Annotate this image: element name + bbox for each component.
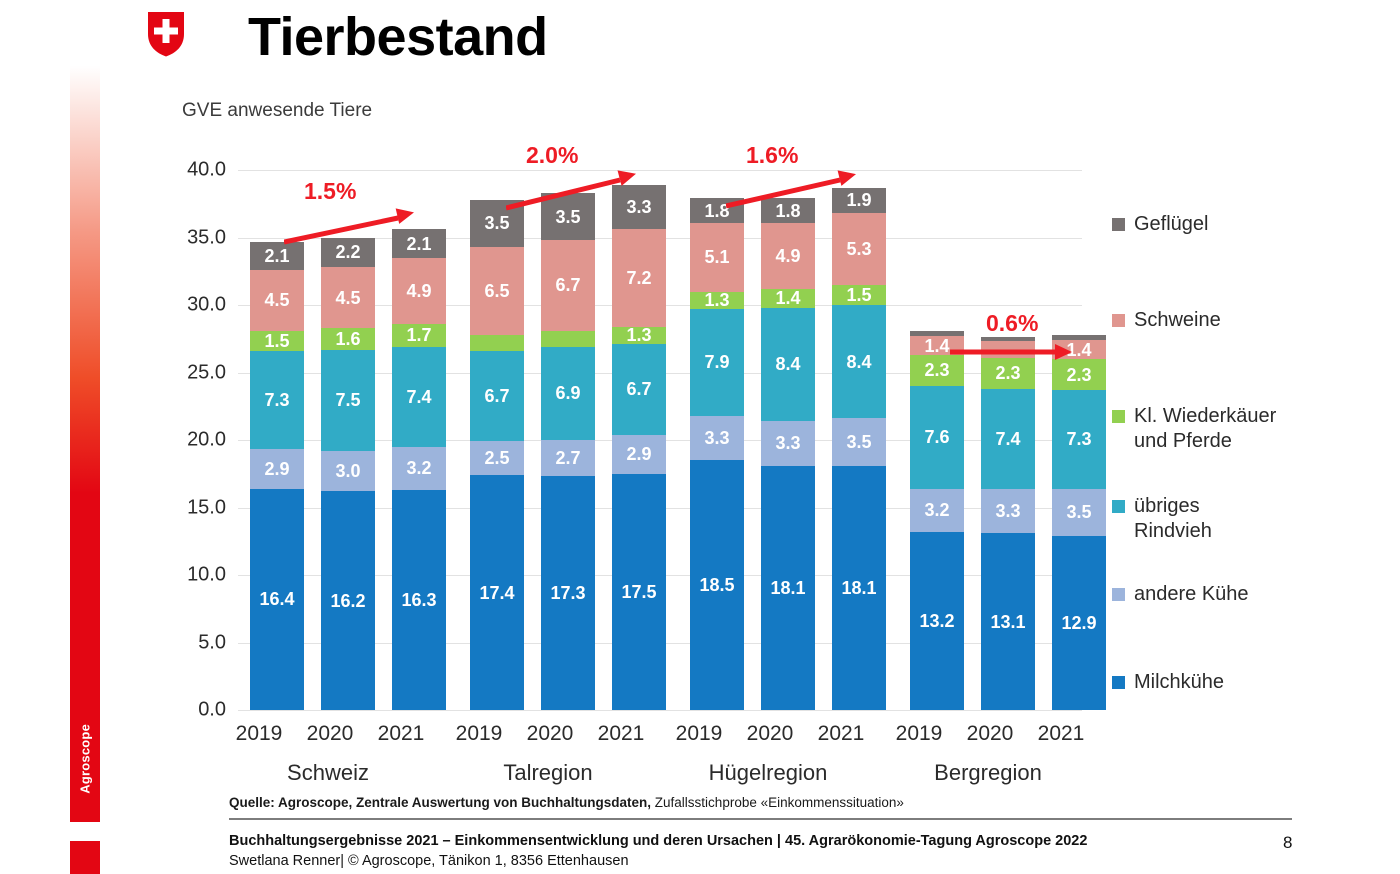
y-axis-tick-label: 25.0 [187,361,226,384]
y-axis-tick-label: 30.0 [187,294,226,317]
bar-segment-value: 4.9 [775,247,800,265]
x-axis-year-label: 2020 [963,722,1017,746]
bar-segment-value: 1.7 [406,326,431,344]
bar-segment[interactable]: 18.1 [832,466,886,710]
bar-segment[interactable]: 7.4 [392,347,446,447]
bar-segment[interactable]: 2.3 [1052,359,1106,390]
bar-segment[interactable]: 1.6 [321,328,375,350]
bar-segment-value: 4.5 [264,291,289,309]
bar-segment-value: 3.2 [924,501,949,519]
bar-segment[interactable]: 17.4 [470,475,524,710]
bar-segment-value: 1.3 [626,326,651,344]
bar-segment-value: 7.4 [406,388,431,406]
bar-segment-value: 17.4 [479,584,514,602]
bar-segment-value: 5.3 [846,240,871,258]
bar-segment[interactable]: 8.4 [761,308,815,421]
bar-segment[interactable]: 18.1 [761,466,815,710]
legend-swatch [1112,500,1125,513]
bar-segment-value: 7.5 [335,391,360,409]
bar-segment[interactable]: 3.5 [1052,489,1106,536]
growth-arrow-icon [284,206,414,252]
y-axis-tick-label: 20.0 [187,429,226,452]
bar-segment[interactable]: 4.5 [321,267,375,328]
y-axis-tick-label: 15.0 [187,496,226,519]
bar-segment-value: 2.3 [1066,366,1091,384]
bar-segment[interactable]: 5.1 [690,223,744,292]
bar-segment-value: 6.7 [484,387,509,405]
bar-segment[interactable]: 3.2 [392,447,446,490]
bar-segment-value: 3.3 [775,434,800,452]
bar-segment-value: 8.4 [775,355,800,373]
x-axis-year-label: 2020 [743,722,797,746]
bar-segment-value: 6.9 [555,384,580,402]
legend-item[interactable]: Schweine [1112,308,1221,333]
x-axis-year-label: 2021 [1034,722,1088,746]
x-axis-region-label: Bergregion [890,760,1086,786]
bar-segment-value: 17.3 [550,584,585,602]
x-axis-year-label: 2021 [374,722,428,746]
bar-segment[interactable]: 6.7 [612,344,666,434]
bar-segment[interactable]: 3.0 [321,451,375,492]
bar-segment-value: 3.3 [995,502,1020,520]
bar-segment[interactable]: 16.2 [321,491,375,710]
bar-segment[interactable]: 3.3 [761,421,815,466]
bar-segment[interactable]: 6.7 [470,351,524,441]
bar-segment[interactable]: 17.5 [612,474,666,710]
bar-segment-value: 2.3 [995,364,1020,382]
plot-area: 0.05.010.015.020.025.030.035.040.0 16.42… [238,170,1082,710]
bar-segment[interactable]: 16.4 [250,489,304,710]
bar-segment-value: 2.5 [484,449,509,467]
agroscope-sidebar-footer-block [70,841,100,874]
bar-segment[interactable]: 2.7 [541,440,595,476]
bar-segment-value: 6.5 [484,282,509,300]
bar-segment[interactable] [541,331,595,347]
bar-segment[interactable]: 7.6 [910,386,964,489]
bar-segment[interactable]: 2.5 [470,441,524,475]
bar-segment[interactable]: 13.1 [981,533,1035,710]
bar-segment[interactable]: 1.3 [690,292,744,310]
bar-segment[interactable]: 2.9 [612,435,666,474]
bar-group: 13.23.27.62.31.413.13.37.42.312.93.57.32… [910,170,1106,710]
bar-segment-value: 7.9 [704,353,729,371]
bar-segment[interactable]: 2.9 [250,449,304,488]
bar-segment-value: 6.7 [555,276,580,294]
bar-segment[interactable]: 1.3 [612,327,666,345]
bar-segment[interactable]: 2.3 [981,358,1035,389]
legend-item[interactable]: übriges Rindvieh [1112,494,1212,544]
legend-label: übriges Rindvieh [1134,494,1212,544]
bar-segment[interactable]: 5.3 [832,213,886,285]
bar-segment-value: 2.3 [924,361,949,379]
agroscope-sidebar-label: Agroscope [78,724,93,794]
growth-rate-label: 1.5% [304,178,356,205]
bar-segment-value: 16.2 [330,592,365,610]
bar-segment[interactable] [470,335,524,351]
x-axis-region-label: Schweiz [230,760,426,786]
bar-segment[interactable]: 6.5 [470,247,524,335]
bar-segment[interactable] [981,337,1035,342]
bar-segment[interactable]: 3.2 [910,489,964,532]
bar-segment-value: 3.5 [1066,503,1091,521]
bar-segment[interactable]: 7.3 [250,351,304,450]
legend-swatch [1112,314,1125,327]
bar-segment-value: 8.4 [846,353,871,371]
bar-segment-value: 3.2 [406,459,431,477]
bar-segment-value: 18.1 [841,579,876,597]
legend-item[interactable]: Kl. Wiederkäuer und Pferde [1112,404,1276,454]
swiss-coat-of-arms-icon [146,10,186,58]
page-number: 8 [1283,833,1292,853]
x-axis-year-label: 2019 [232,722,286,746]
bar-segment-value: 7.3 [1066,430,1091,448]
bar-segment[interactable] [1052,335,1106,340]
y-axis-tick-label: 10.0 [187,564,226,587]
bar-segment-value: 4.5 [335,289,360,307]
legend-label: Schweine [1134,308,1221,333]
y-axis-tick-label: 0.0 [198,699,226,722]
x-axis-year-label: 2021 [814,722,868,746]
bar-segment-value: 13.1 [990,613,1025,631]
x-axis-year-label: 2019 [452,722,506,746]
y-axis-tick-label: 40.0 [187,159,226,182]
bar-segment-value: 3.5 [846,433,871,451]
source-note-bold: Quelle: Agroscope, Zentrale Auswertung v… [229,795,651,810]
bar-segment-value: 17.5 [621,583,656,601]
bar-segment[interactable]: 7.9 [690,309,744,416]
bar-segment-value: 1.4 [924,337,949,355]
bar-segment-value: 18.5 [699,576,734,594]
bar-segment-value: 3.0 [335,462,360,480]
x-axis-year-label: 2019 [672,722,726,746]
bar-segment-value: 5.1 [704,248,729,266]
legend-label: Geflügel [1134,212,1209,237]
bar-segment[interactable]: 18.5 [690,460,744,710]
bar-segment-value: 1.3 [704,291,729,309]
bar-segment[interactable]: 7.4 [981,389,1035,489]
legend-label: Milchkühe [1134,670,1224,695]
x-axis-year-label: 2021 [594,722,648,746]
bar-segment[interactable]: 1.4 [761,289,815,308]
bar-segment[interactable]: 13.2 [910,532,964,710]
bar-segment-value: 7.2 [626,269,651,287]
bar-group: 17.42.56.76.53.517.32.76.96.73.517.52.96… [470,170,666,710]
legend-item[interactable]: Milchkühe [1112,670,1224,695]
bar-segment[interactable]: 1.5 [250,331,304,351]
bar-segment-value: 1.5 [846,286,871,304]
bar-segment-value: 13.2 [919,612,954,630]
y-axis-tick-label: 5.0 [198,631,226,654]
bar-segment[interactable]: 17.3 [541,476,595,710]
x-axis-year-label: 2020 [523,722,577,746]
footer-title: Buchhaltungsergebnisse 2021 – Einkommens… [229,833,1087,849]
bar-segment[interactable]: 3.3 [690,416,744,461]
bar-segment[interactable]: 1.7 [392,324,446,347]
legend-swatch [1112,218,1125,231]
bar-segment[interactable] [910,331,964,336]
bar-segment-value: 4.9 [406,282,431,300]
chart-container: 0.05.010.015.020.025.030.035.040.0 16.42… [182,140,1102,780]
bar-segment[interactable]: 8.4 [832,305,886,418]
legend-label: Kl. Wiederkäuer und Pferde [1134,404,1276,454]
bar-segment[interactable]: 16.3 [392,490,446,710]
source-note-rest: Zufallsstichprobe «Einkommenssituation» [651,795,904,810]
y-axis-tick-label: 35.0 [187,226,226,249]
growth-arrow-icon [726,168,856,216]
chart-subtitle: GVE anwesende Tiere [182,100,372,122]
bar-group: 18.53.37.91.35.11.818.13.38.41.44.91.818… [690,170,886,710]
bar-segment[interactable]: 12.9 [1052,536,1106,710]
footer-divider [229,818,1292,820]
bar-segment-value: 16.3 [401,591,436,609]
bar-segment-value: 18.1 [770,579,805,597]
legend-swatch [1112,410,1125,423]
bar-segment-value: 7.6 [924,428,949,446]
x-axis-year-label: 2020 [303,722,357,746]
bar-segment-value: 1.4 [775,289,800,307]
bar-segment-value: 3.3 [704,429,729,447]
bar-segment-value: 1.5 [264,332,289,350]
bar-segment[interactable]: 4.5 [250,270,304,331]
bar-segment-value: 1.6 [335,330,360,348]
bar-segment[interactable]: 6.7 [541,240,595,330]
bar-segment-value: 2.7 [555,449,580,467]
bar-segment[interactable]: 7.3 [1052,390,1106,489]
growth-arrow-icon [506,168,636,218]
x-axis-region-label: Talregion [450,760,646,786]
bar-segment[interactable]: 4.9 [392,258,446,324]
source-note: Quelle: Agroscope, Zentrale Auswertung v… [229,795,904,810]
bar-segment[interactable]: 1.5 [832,285,886,305]
bar-segment-value: 16.4 [259,590,294,608]
bar-segment-value: 6.7 [626,380,651,398]
legend-label: andere Kühe [1134,582,1249,607]
bar-segment-value: 7.3 [264,391,289,409]
growth-rate-label: 2.0% [526,142,578,169]
bar-segment[interactable]: 7.2 [612,229,666,326]
bar-segment-value: 2.9 [264,460,289,478]
legend-item[interactable]: Geflügel [1112,212,1209,237]
growth-rate-label: 1.6% [746,142,798,169]
legend-swatch [1112,676,1125,689]
bar-segment[interactable]: 6.9 [541,347,595,440]
x-axis-year-label: 2019 [892,722,946,746]
bar-segment[interactable]: 4.9 [761,223,815,289]
legend-item[interactable]: andere Kühe [1112,582,1249,607]
legend-swatch [1112,588,1125,601]
bar-segment-value: 2.9 [626,445,651,463]
bar-segment[interactable]: 7.5 [321,350,375,451]
x-axis-region-label: Hügelregion [670,760,866,786]
bar-segment[interactable]: 3.5 [832,418,886,465]
bar-segment[interactable]: 3.3 [981,489,1035,534]
growth-rate-label: 0.6% [986,310,1038,337]
page-title: Tierbestand [248,8,548,67]
gridline [238,710,1082,711]
bar-segment-value: 7.4 [995,430,1020,448]
agroscope-sidebar: Agroscope [70,0,100,822]
footer-author: Swetlana Renner| © Agroscope, Tänikon 1,… [229,853,629,869]
bar-segment-value: 12.9 [1061,614,1096,632]
growth-arrow-icon [950,342,1072,362]
